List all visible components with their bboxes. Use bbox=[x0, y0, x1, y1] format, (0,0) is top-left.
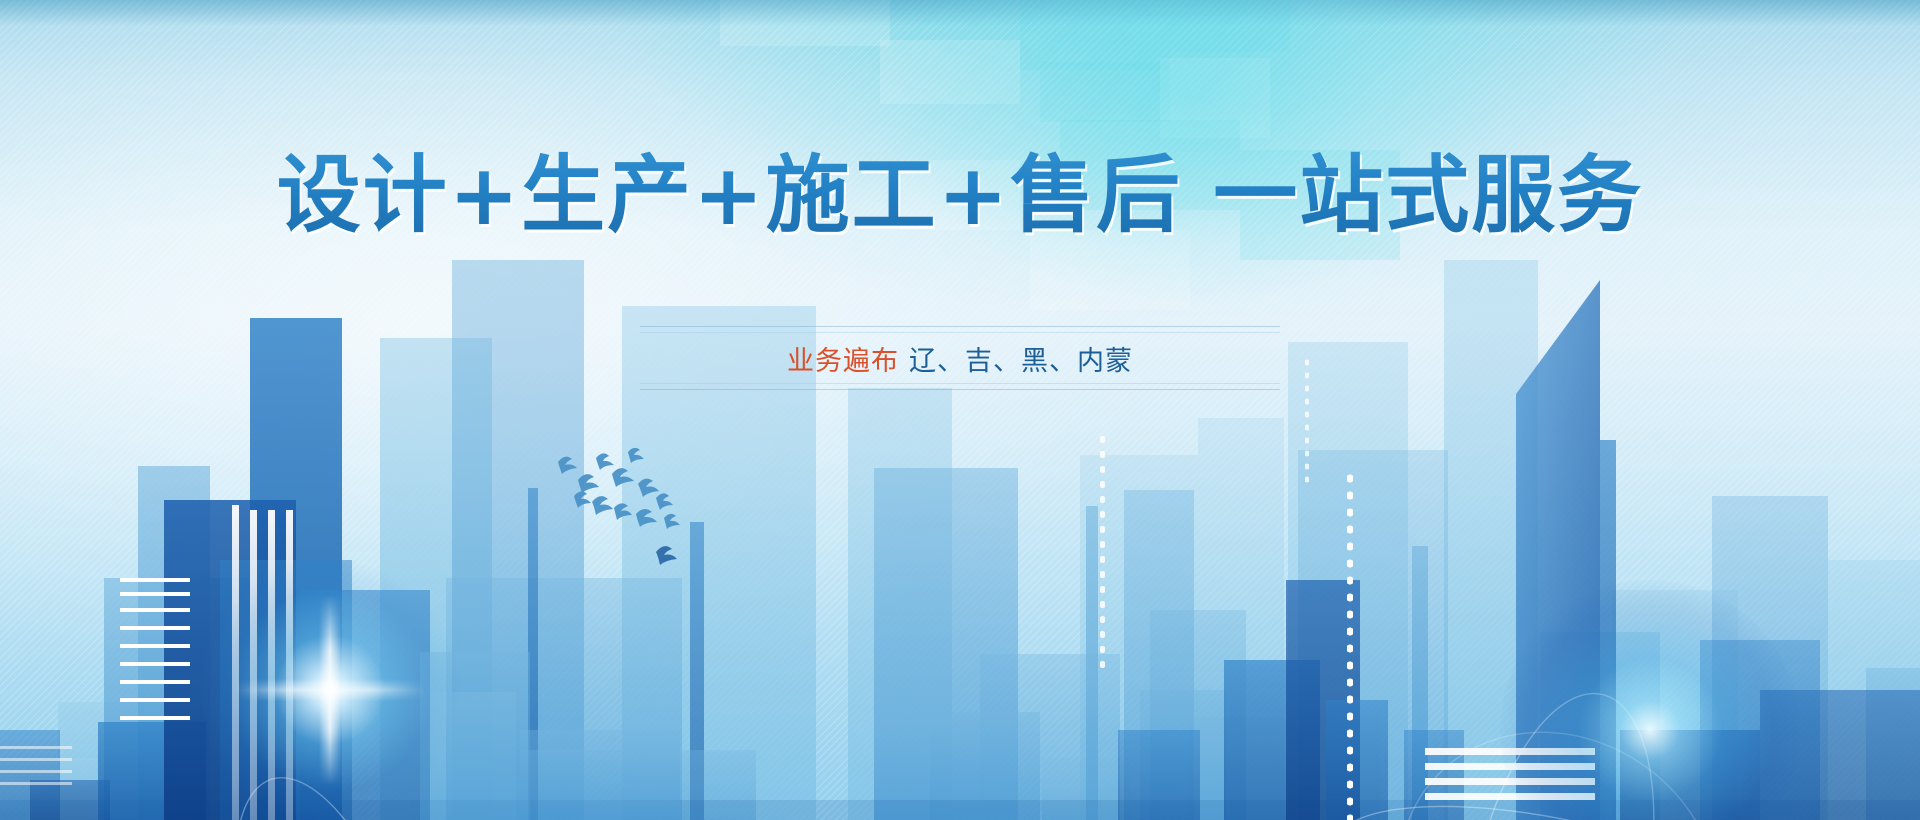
page-title: 设计+生产+施工+售后 一站式服务 bbox=[277, 150, 1643, 241]
striped-tower-left bbox=[120, 578, 190, 720]
striped-block-right bbox=[1425, 748, 1595, 800]
light-flare-left-rays bbox=[236, 596, 424, 784]
striped-block-farleft bbox=[0, 746, 72, 785]
dotted-line-left bbox=[1100, 432, 1105, 672]
dotted-line-center bbox=[1305, 356, 1309, 486]
top-shade bbox=[0, 0, 1920, 26]
subtitle-bar: 业务遍布辽、吉、黑、内蒙 bbox=[640, 326, 1280, 390]
subtitle-highlight: 业务遍布 bbox=[787, 346, 899, 377]
headline-block: 设计+生产+施工+售后 一站式服务 bbox=[0, 150, 1920, 241]
subtitle-text: 业务遍布辽、吉、黑、内蒙 bbox=[787, 339, 1133, 378]
birds-flock bbox=[540, 440, 720, 580]
promo-banner: 设计+生产+施工+售后 一站式服务 业务遍布辽、吉、黑、内蒙 bbox=[0, 0, 1920, 820]
dotted-line-right bbox=[1347, 470, 1353, 820]
subtitle-regions: 辽、吉、黑、内蒙 bbox=[909, 346, 1133, 377]
